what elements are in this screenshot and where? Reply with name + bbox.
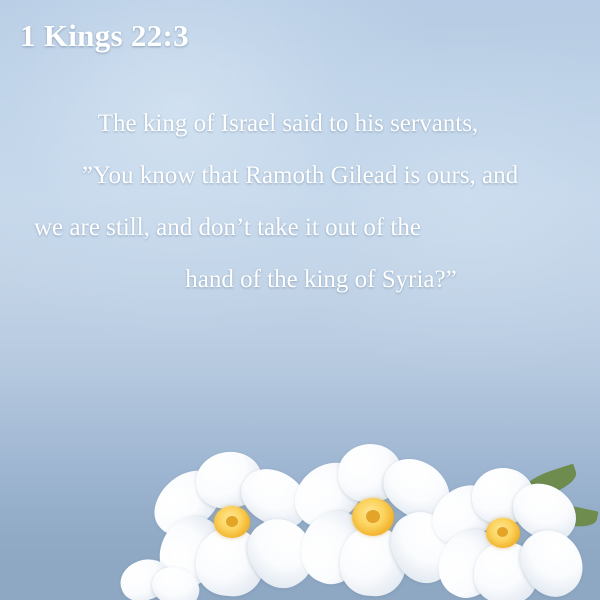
flower-b-center-dot bbox=[366, 510, 380, 523]
verse-text: The king of Israel said to his servants,… bbox=[0, 98, 600, 306]
verse-image-card: 1 Kings 22:3 The king of Israel said to … bbox=[0, 0, 600, 600]
verse-line-4: hand of the king of Syria?” bbox=[22, 254, 578, 306]
verse-line-1: The king of Israel said to his servants, bbox=[22, 98, 578, 150]
flower-c-center-dot bbox=[497, 527, 508, 537]
flower-a-center-dot bbox=[226, 516, 238, 527]
flower-cluster bbox=[0, 410, 600, 600]
verse-line-2: ”You know that Ramoth Gilead is ours, an… bbox=[22, 150, 578, 202]
page-title: 1 Kings 22:3 bbox=[20, 18, 189, 54]
verse-line-3: we are still, and don’t take it out of t… bbox=[22, 202, 578, 254]
